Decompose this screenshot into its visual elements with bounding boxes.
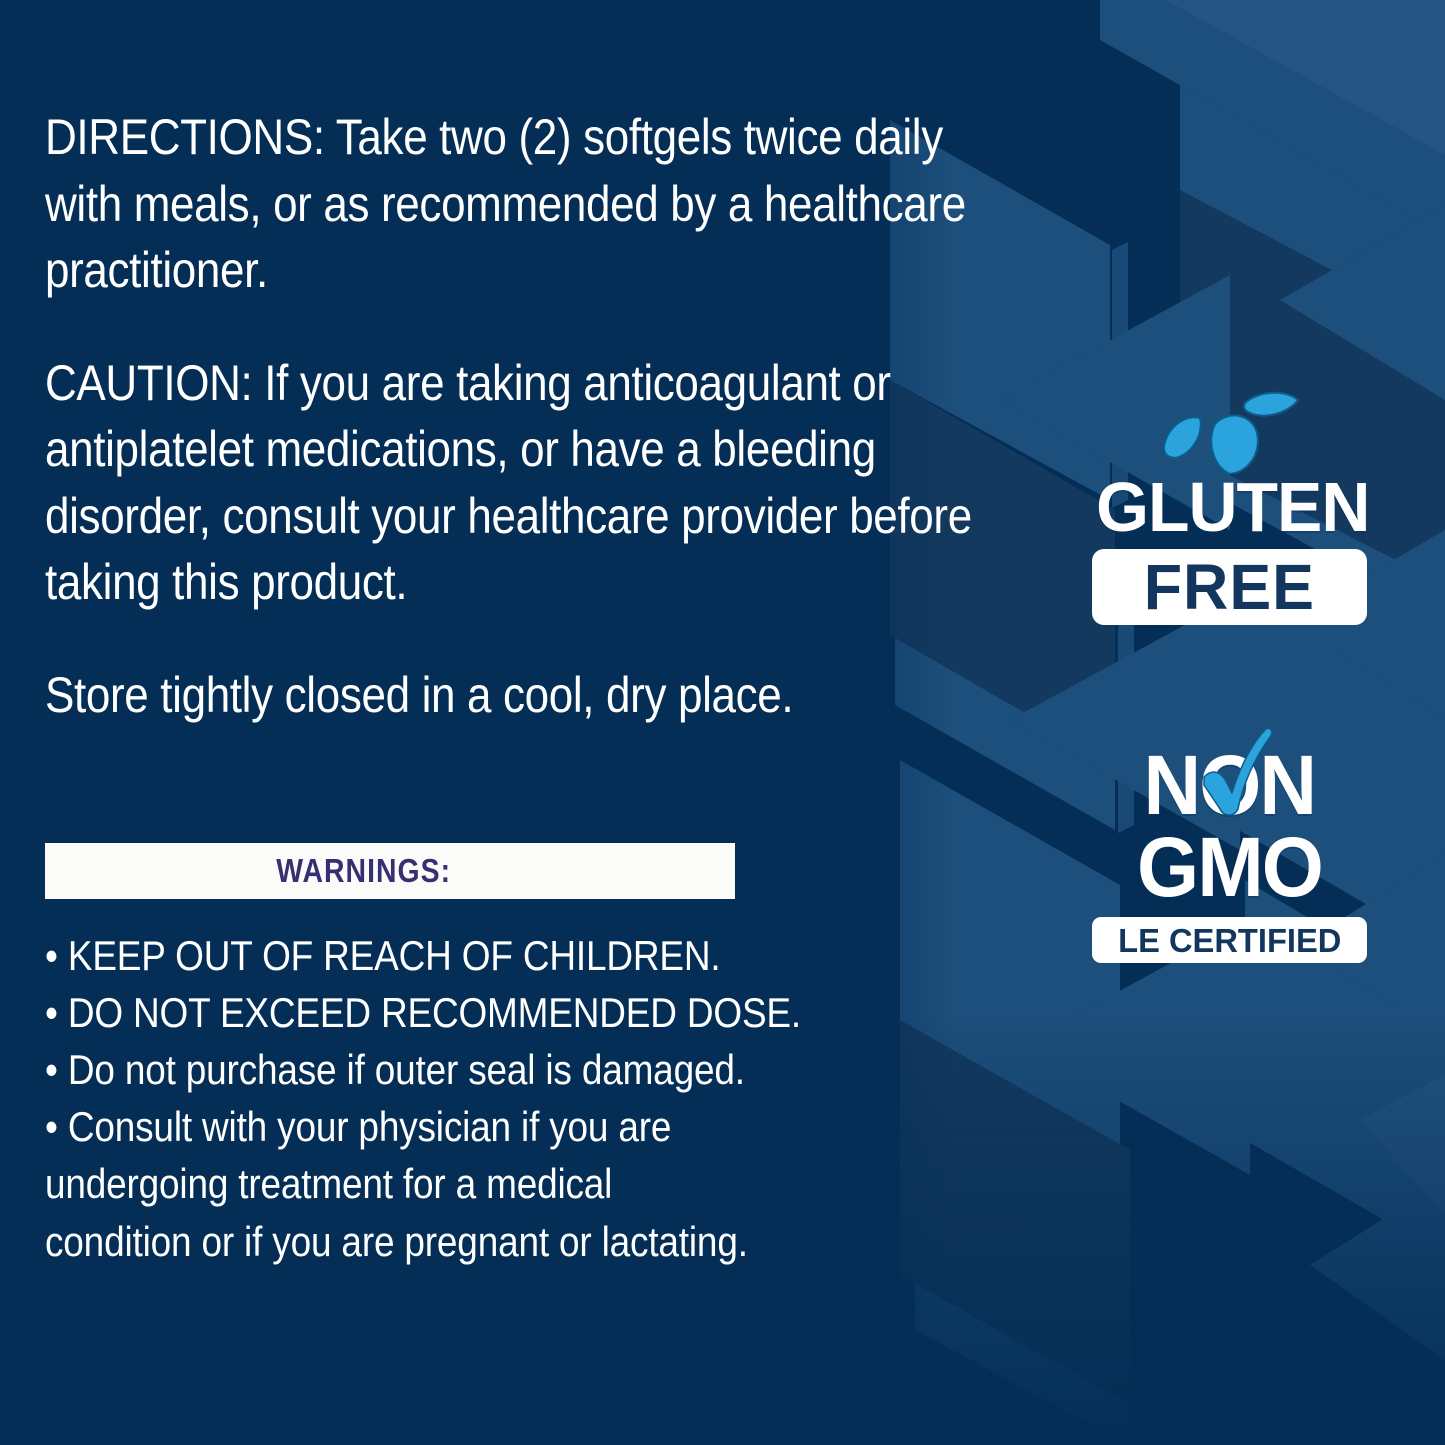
warnings-list: • KEEP OUT OF REACH OF CHILDREN. • DO NO…: [45, 927, 1045, 1270]
directions-paragraph: DIRECTIONS: Take two (2) softgels twice …: [45, 104, 1020, 304]
warnings-section: WARNINGS: • KEEP OUT OF REACH OF CHILDRE…: [45, 843, 1045, 1270]
warning-list-item: • DO NOT EXCEED RECOMMENDED DOSE.: [45, 984, 925, 1041]
gluten-free-plate: FREE: [1092, 549, 1367, 625]
gluten-free-badge: GLUTEN FREE: [1092, 388, 1367, 625]
label-text-column: DIRECTIONS: Take two (2) softgels twice …: [45, 104, 1020, 728]
warning-list-item: • Consult with your physician if you are…: [45, 1098, 925, 1269]
non-gmo-badge: NON GMO LE CERTIFIED: [1092, 743, 1367, 963]
supplement-label-panel: DIRECTIONS: Take two (2) softgels twice …: [0, 0, 1445, 1445]
warning-list-item: • Do not purchase if outer seal is damag…: [45, 1041, 925, 1098]
wheat-leaves-icon: [1158, 388, 1367, 474]
warning-list-item: • KEEP OUT OF REACH OF CHILDREN.: [45, 927, 925, 984]
warnings-title: WARNINGS:: [277, 852, 452, 890]
non-gmo-line1-row: NON: [1092, 743, 1367, 827]
certification-badge-column: GLUTEN FREE NON GMO LE CERTIFIED: [1092, 388, 1367, 963]
storage-instructions: Store tightly closed in a cool, dry plac…: [45, 662, 1020, 729]
gluten-free-line2: FREE: [1144, 555, 1315, 619]
non-gmo-line2: GMO: [1099, 825, 1360, 909]
non-gmo-line1: NON: [1144, 743, 1316, 827]
caution-paragraph: CAUTION: If you are taking anticoagulant…: [45, 350, 1020, 616]
warnings-header-bar: WARNINGS:: [45, 843, 735, 899]
non-gmo-certified-plate: LE CERTIFIED: [1092, 917, 1367, 963]
non-gmo-line3: LE CERTIFIED: [1118, 924, 1341, 957]
gluten-free-line1: GLUTEN: [1096, 474, 1363, 541]
